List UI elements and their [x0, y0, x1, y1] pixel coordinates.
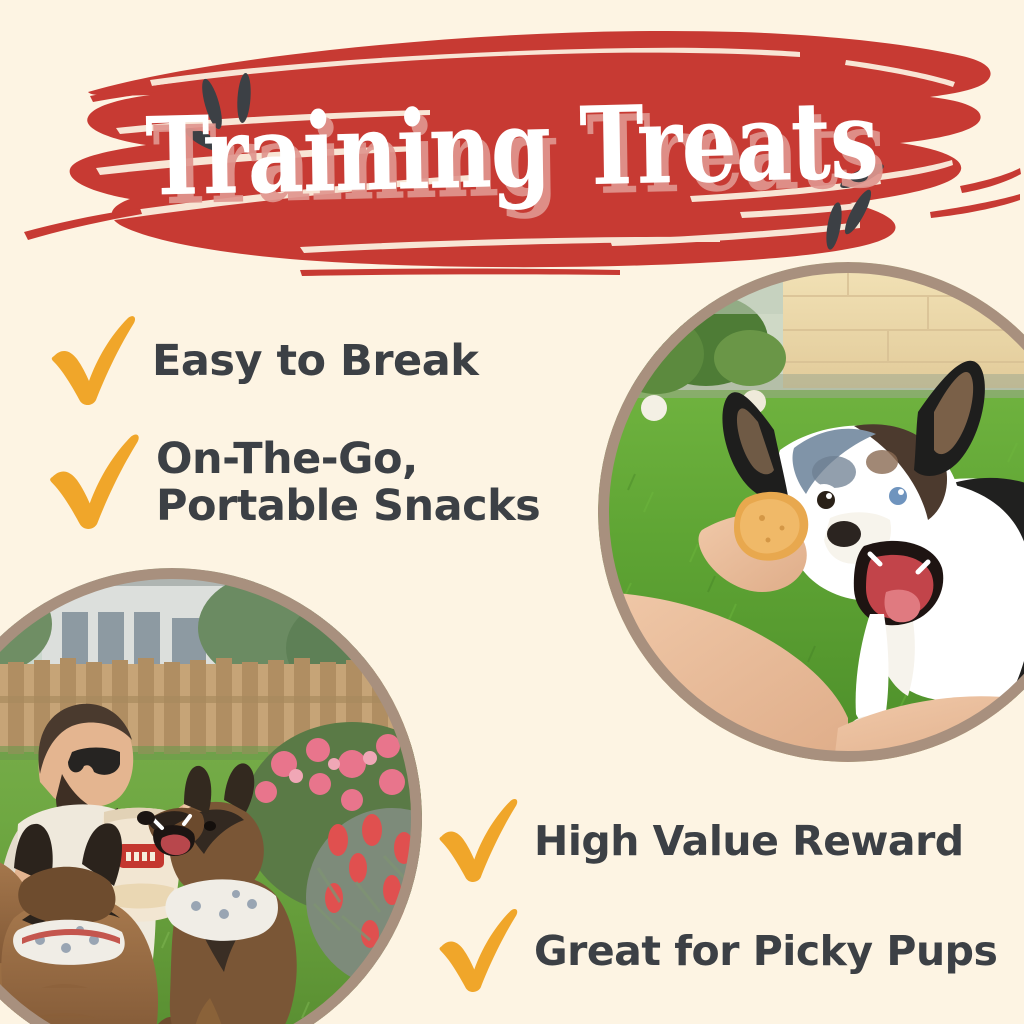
dog-bandana [13, 920, 125, 965]
photo-trainer-with-dogs [0, 568, 422, 1024]
checkmark-icon [436, 905, 520, 998]
checkmark-icon [436, 795, 520, 888]
photo-trainer-with-dogs-scene [0, 568, 422, 1024]
feature-item-easy-to-break: Easy to Break [48, 312, 478, 411]
banner-brush-stroke [0, 0, 1024, 290]
photo-dog-catching-treat-scene [598, 262, 1024, 762]
checkmark-icon [48, 312, 138, 411]
feature-item-on-the-go-portable: On-The-Go, Portable Snacks [46, 430, 540, 535]
feature-label: On-The-Go, Portable Snacks [156, 436, 540, 529]
feature-item-high-value-reward: High Value Reward [436, 795, 964, 888]
feature-label: Easy to Break [152, 338, 478, 384]
feature-label: Great for Picky Pups [534, 929, 997, 973]
sunglasses [68, 748, 120, 775]
photo-dog-catching-treat [598, 262, 1024, 762]
checkmark-icon [46, 430, 142, 535]
feature-label: High Value Reward [534, 819, 964, 863]
feature-item-great-for-picky-pups: Great for Picky Pups [436, 905, 997, 998]
poster-canvas: Training Treats [0, 0, 1024, 1024]
brush-shape [24, 31, 1021, 276]
